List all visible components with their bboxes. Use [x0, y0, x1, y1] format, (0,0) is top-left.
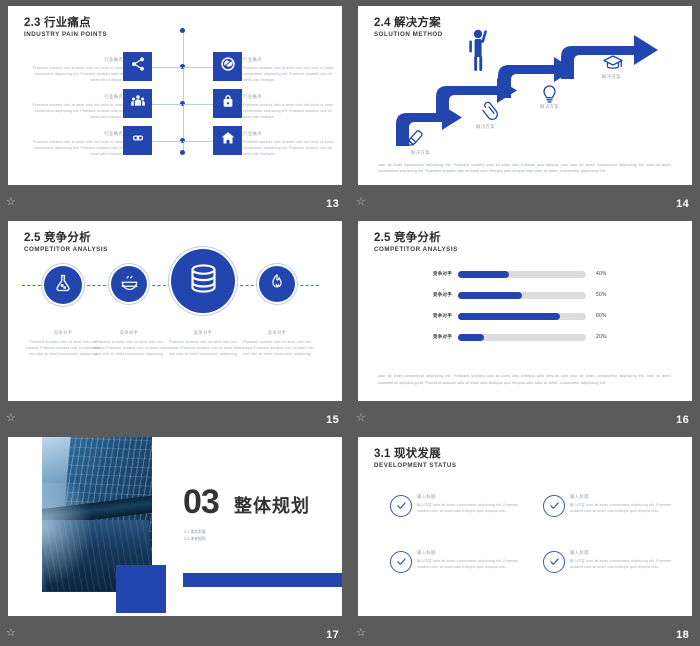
star-icon[interactable]: ☆	[356, 628, 368, 640]
bar-fill	[458, 271, 509, 277]
pain-point-text-2-right: 行业痛点 Praesent sodales odio at amet odio …	[243, 93, 340, 120]
check-circle-icon	[390, 495, 412, 517]
status-heading: 输入标题	[570, 493, 683, 500]
status-item-1: 输入标题 输入内容 odor sit amet, consectetur adi…	[390, 493, 530, 514]
competitor-body: Praesent sodales odio sit amet odio nisl…	[239, 339, 315, 357]
connector-dash-1	[82, 285, 111, 286]
pain-point-body: Praesent sodales odio at amet odio nisl …	[243, 65, 340, 83]
page-title-en: COMPETITOR ANALYSIS	[24, 246, 108, 254]
status-item-3: 输入标题 输入内容 odor sit amet, consectetur adi…	[390, 549, 530, 570]
status-body: 输入内容 odor sit amet, consectetur adipisci…	[570, 502, 683, 514]
pain-point-text-1-right: 行业痛点 Praesent sodales odio at amet odio …	[243, 56, 340, 83]
staircase-arrows-svg	[358, 6, 692, 185]
bar-row: 竞争对手40%	[410, 271, 607, 277]
connector-dash-2	[147, 285, 171, 286]
page-number: 17	[326, 629, 339, 641]
competitor-text-2: 竞争对手 Praesent sodales odio sit amet odio…	[91, 329, 167, 357]
thumbnail-footer: ☆ 16	[350, 401, 700, 431]
bar-value-label: 80%	[596, 313, 607, 319]
connector-line-r2-left	[152, 104, 182, 105]
star-icon[interactable]: ☆	[356, 197, 368, 209]
thumbnail-footer: ☆ 18	[350, 616, 700, 646]
pain-point-body: Praesent sodales odio at amet odio nisl …	[243, 139, 340, 157]
competitor-text-3: 竞争对手 Praesent sodales odio sit amet odio…	[165, 329, 241, 357]
pain-point-text-3-right: 行业痛点 Praesent sodales odio at amet odio …	[243, 130, 340, 157]
connector-dot-bottom	[180, 150, 185, 155]
status-body: 输入内容 odor sit amet, consectetur adipisci…	[417, 558, 530, 570]
connector-vertical-line	[183, 30, 184, 152]
slide-thumbnail-17[interactable]: 03 整体规划 3.1 现状发展 3.2 未来规划 ☆ 17	[0, 431, 350, 646]
page-title-15: 2.5 竞争分析 COMPETITOR ANALYSIS	[24, 232, 108, 254]
page-title-13: 2.3 行业痛点 INDUSTRY PAIN POINTS	[24, 17, 107, 39]
competitor-circle-3[interactable]	[171, 249, 235, 313]
slide-thumbnail-16[interactable]: 2.5 竞争分析 COMPETITOR ANALYSIS 竞争对手40%竞争对手…	[350, 215, 700, 430]
bar-track	[458, 271, 586, 277]
pain-point-text-1-left: 行业痛点 Praesent sodales odio at amet odio …	[26, 56, 123, 83]
check-circle-icon	[543, 495, 565, 517]
step-label-3: 解决方案	[540, 103, 559, 110]
page-title-16: 2.5 竞争分析 COMPETITOR ANALYSIS	[374, 232, 458, 254]
check-circle-icon	[543, 551, 565, 573]
page-title-en: DEVELOPMENT STATUS	[374, 462, 457, 470]
pain-point-tile-share[interactable]	[123, 52, 152, 81]
step-label-1: 解决方案	[411, 149, 430, 156]
step-label-4: 解决方案	[602, 73, 621, 80]
page-title-cn: 2.3 行业痛点	[24, 17, 107, 30]
slide-canvas-13: 2.3 行业痛点 INDUSTRY PAIN POINTS 行业痛点 Praes…	[8, 6, 342, 185]
accent-bar	[183, 573, 342, 587]
bar-row: 竞争对手20%	[410, 334, 607, 340]
bar-row: 竞争对手80%	[410, 313, 607, 319]
check-circle-icon	[390, 551, 412, 573]
page-number: 13	[326, 198, 339, 210]
pain-point-heading: 行业痛点	[243, 93, 340, 100]
slide-canvas-15: 2.5 竞争分析 COMPETITOR ANALYSIS	[8, 221, 342, 400]
pain-point-text-2-left: 行业痛点 Praesent sodales odio at amet odio …	[26, 93, 123, 120]
slide-thumbnail-13[interactable]: 2.3 行业痛点 INDUSTRY PAIN POINTS 行业痛点 Praes…	[0, 0, 350, 215]
paperclip-icon	[480, 101, 499, 121]
bar-value-label: 40%	[596, 271, 607, 277]
section-sub-items: 3.1 现状发展 3.2 未来规划	[184, 529, 206, 543]
pain-point-body: Praesent sodales odio at amet odio nisl …	[26, 102, 123, 120]
team-group-icon	[130, 93, 146, 114]
bar-category-label: 竞争对手	[410, 271, 452, 277]
thumbnail-footer: ☆ 17	[0, 616, 350, 646]
slide-thumbnail-grid: 2.3 行业痛点 INDUSTRY PAIN POINTS 行业痛点 Praes…	[0, 0, 700, 646]
thumbnail-footer: ☆ 13	[0, 185, 350, 215]
section-sub-item-1: 3.1 现状发展	[184, 529, 206, 536]
slide-canvas-16: 2.5 竞争分析 COMPETITOR ANALYSIS 竞争对手40%竞争对手…	[358, 221, 692, 400]
page-title-18: 3.1 现状发展 DEVELOPMENT STATUS	[374, 448, 457, 470]
pain-point-tile-link[interactable]	[123, 126, 152, 155]
star-icon[interactable]: ☆	[6, 197, 18, 209]
connector-line-r3-right	[183, 141, 213, 142]
star-icon[interactable]: ☆	[6, 413, 18, 425]
section-number: 03	[183, 485, 219, 519]
connector-dash-3	[235, 285, 259, 286]
chain-link-icon	[130, 130, 146, 151]
bar-row: 竞争对手50%	[410, 292, 607, 298]
bar-track	[458, 292, 586, 298]
pain-point-tile-lock[interactable]	[213, 89, 242, 118]
share-icon	[130, 56, 146, 77]
flask-icon	[53, 273, 73, 298]
pain-point-body: Praesent sodales odio at amet odio nisl …	[26, 139, 123, 157]
page-number: 16	[676, 414, 689, 426]
pain-point-text-3-left: 行业痛点 Praesent sodales odio at amet odio …	[26, 130, 123, 157]
status-heading: 输入标题	[417, 493, 530, 500]
connector-dot-top	[180, 28, 185, 33]
hot-bowl-icon	[120, 272, 139, 296]
bar-track	[458, 334, 586, 340]
page-number: 14	[676, 198, 689, 210]
accent-square	[116, 565, 166, 613]
competitor-circle-1[interactable]	[44, 266, 82, 304]
status-item-2: 输入标题 输入内容 odor sit amet, consectetur adi…	[543, 493, 683, 514]
status-item-4: 输入标题 输入内容 odor sit amet, consectetur adi…	[543, 549, 683, 570]
bar-value-label: 20%	[596, 334, 607, 340]
section-sub-item-2: 3.2 未来规划	[184, 536, 206, 543]
connector-dash-4	[295, 285, 319, 286]
step-label-2: 解决方案	[476, 123, 495, 130]
graduation-cap-icon	[604, 56, 622, 68]
bar-category-label: 竞争对手	[410, 334, 452, 340]
competitor-text-1: 竞争对手 Praesent sodales odio sit amet odio…	[25, 329, 101, 357]
status-body: 输入内容 odor sit amet, consectetur adipisci…	[570, 558, 683, 570]
section-title: 整体规划	[234, 495, 310, 517]
competitor-body: Praesent sodales odio sit amet odio nisl…	[91, 339, 167, 357]
star-icon[interactable]: ☆	[356, 413, 368, 425]
competitor-heading: 竞争对手	[91, 329, 167, 336]
slide-body-text: odor sit amet consectetur adipiscing eli…	[378, 373, 672, 385]
page-number: 18	[676, 629, 689, 641]
photo-glow-layer	[42, 483, 97, 592]
competitor-circle-2[interactable]	[111, 266, 147, 302]
bar-fill	[458, 292, 522, 298]
database-icon	[187, 262, 220, 300]
slide-thumbnail-14[interactable]: 2.4 解决方案 SOLUTION METHOD	[350, 0, 700, 215]
slide-canvas-14: 2.4 解决方案 SOLUTION METHOD	[358, 6, 692, 185]
star-icon[interactable]: ☆	[6, 628, 18, 640]
slide-thumbnail-15[interactable]: 2.5 竞争分析 COMPETITOR ANALYSIS	[0, 215, 350, 430]
competitor-heading: 竞争对手	[25, 329, 101, 336]
page-number: 15	[326, 414, 339, 426]
page-title-en: INDUSTRY PAIN POINTS	[24, 31, 107, 39]
pain-point-body: Praesent sodales odio at amet odio nisl …	[26, 65, 123, 83]
pain-point-heading: 行业痛点	[243, 130, 340, 137]
connector-line-r1-right	[183, 67, 213, 68]
status-body: 输入内容 odor sit amet, consectetur adipisci…	[417, 502, 530, 514]
home-icon	[220, 130, 236, 151]
competitor-body: Praesent sodales odio sit amet odio nisl…	[25, 339, 101, 357]
slide-canvas-18: 3.1 现状发展 DEVELOPMENT STATUS 输入标题 输入内容 od…	[358, 437, 692, 616]
shield-clock-icon	[220, 56, 236, 77]
slide-thumbnail-18[interactable]: 3.1 现状发展 DEVELOPMENT STATUS 输入标题 输入内容 od…	[350, 431, 700, 646]
pain-point-body: Praesent sodales odio at amet odio nisl …	[243, 102, 340, 120]
competitor-circle-4[interactable]	[259, 266, 295, 302]
bar-value-label: 50%	[596, 292, 607, 298]
page-title-cn: 3.1 现状发展	[374, 448, 457, 461]
connector-line-r1-left	[152, 67, 182, 68]
bar-category-label: 竞争对手	[410, 313, 452, 319]
pain-point-heading: 行业痛点	[26, 56, 123, 63]
status-heading: 输入标题	[570, 549, 683, 556]
pain-point-heading: 行业痛点	[26, 93, 123, 100]
competitor-body: Praesent sodales odio sit amet odio nisl…	[165, 339, 241, 357]
solution-staircase-diagram	[358, 6, 692, 185]
pain-point-heading: 行业痛点	[243, 56, 340, 63]
connector-dash-0	[22, 285, 46, 286]
bar-category-label: 竞争对手	[410, 292, 452, 298]
bar-fill	[458, 334, 484, 340]
competitor-heading: 竞争对手	[239, 329, 315, 336]
slide-canvas-17: 03 整体规划 3.1 现状发展 3.2 未来规划	[8, 437, 342, 616]
page-title-cn: 2.5 竞争分析	[24, 232, 108, 245]
lock-icon	[220, 93, 236, 114]
competitor-heading: 竞争对手	[165, 329, 241, 336]
thumbnail-footer: ☆ 15	[0, 401, 350, 431]
pain-point-tile-team[interactable]	[123, 89, 152, 118]
competitor-text-4: 竞争对手 Praesent sodales odio sit amet odio…	[239, 329, 315, 357]
bar-track	[458, 313, 586, 319]
connector-line-r2-right	[183, 104, 213, 105]
connector-line-r3-left	[152, 141, 182, 142]
status-heading: 输入标题	[417, 549, 530, 556]
page-title-cn: 2.5 竞争分析	[374, 232, 458, 245]
pain-point-tile-home[interactable]	[213, 126, 242, 155]
person-waving-icon	[469, 30, 487, 71]
lightbulb-icon	[544, 86, 555, 102]
pain-point-tile-shield-clock[interactable]	[213, 52, 242, 81]
slide-body-text: odor sit amet consectetur adipiscing eli…	[378, 162, 672, 174]
thumbnail-footer: ☆ 14	[350, 185, 700, 215]
flame-icon	[268, 273, 286, 296]
page-title-en: COMPETITOR ANALYSIS	[374, 246, 458, 254]
pain-point-heading: 行业痛点	[26, 130, 123, 137]
bar-fill	[458, 313, 560, 319]
